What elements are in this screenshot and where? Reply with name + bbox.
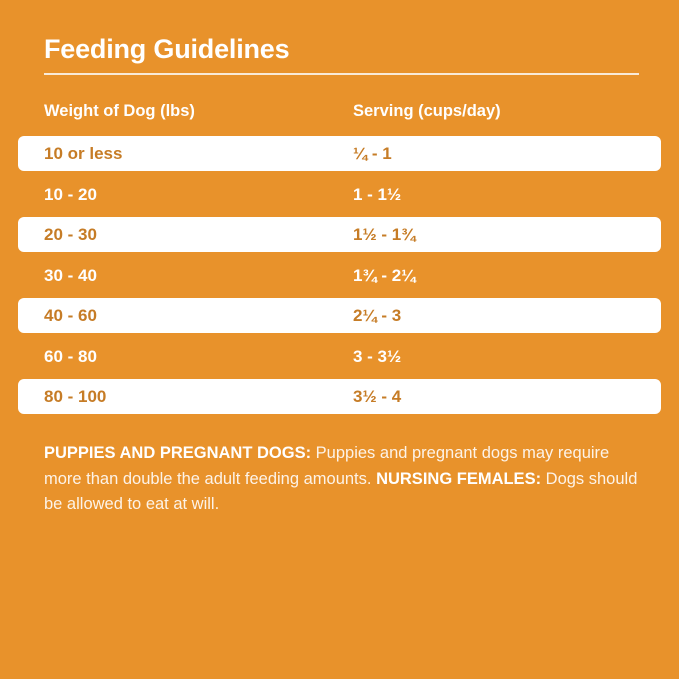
title-divider [44, 73, 639, 75]
cell-serving: 3½ - 4 [353, 379, 401, 414]
page-title: Feeding Guidelines [44, 33, 289, 65]
cell-weight: 20 - 30 [44, 217, 97, 252]
cell-serving: 3 - 3½ [353, 339, 401, 374]
cell-serving: 1½ - 1¾ [353, 217, 415, 252]
cell-weight: 40 - 60 [44, 298, 97, 333]
note-label-nursing: NURSING FEMALES: [376, 470, 541, 488]
column-header-weight: Weight of Dog (lbs) [44, 102, 195, 121]
cell-serving: 1¾ - 2¼ [353, 258, 415, 293]
feeding-guidelines-panel: Feeding Guidelines Weight of Dog (lbs) S… [0, 0, 679, 679]
feeding-note: PUPPIES AND PREGNANT DOGS: Puppies and p… [44, 441, 644, 518]
cell-serving: 2¼ - 3 [353, 298, 401, 333]
cell-serving: ¼ - 1 [353, 136, 392, 171]
cell-weight: 10 - 20 [44, 177, 97, 212]
cell-weight: 30 - 40 [44, 258, 97, 293]
table-row: 10 or less¼ - 1 [18, 136, 661, 171]
cell-weight: 80 - 100 [44, 379, 106, 414]
table-row: 80 - 1003½ - 4 [18, 379, 661, 414]
table-row: 10 - 201 - 1½ [18, 177, 661, 212]
note-label-puppies: PUPPIES AND PREGNANT DOGS: [44, 444, 311, 462]
cell-weight: 60 - 80 [44, 339, 97, 374]
cell-weight: 10 or less [44, 136, 122, 171]
table-row: 30 - 401¾ - 2¼ [18, 258, 661, 293]
table-row: 20 - 301½ - 1¾ [18, 217, 661, 252]
table-row: 40 - 602¼ - 3 [18, 298, 661, 333]
cell-serving: 1 - 1½ [353, 177, 401, 212]
table-row: 60 - 803 - 3½ [18, 339, 661, 374]
column-header-serving: Serving (cups/day) [353, 102, 501, 121]
feeding-table: 10 or less¼ - 110 - 201 - 1½20 - 301½ - … [18, 136, 661, 420]
